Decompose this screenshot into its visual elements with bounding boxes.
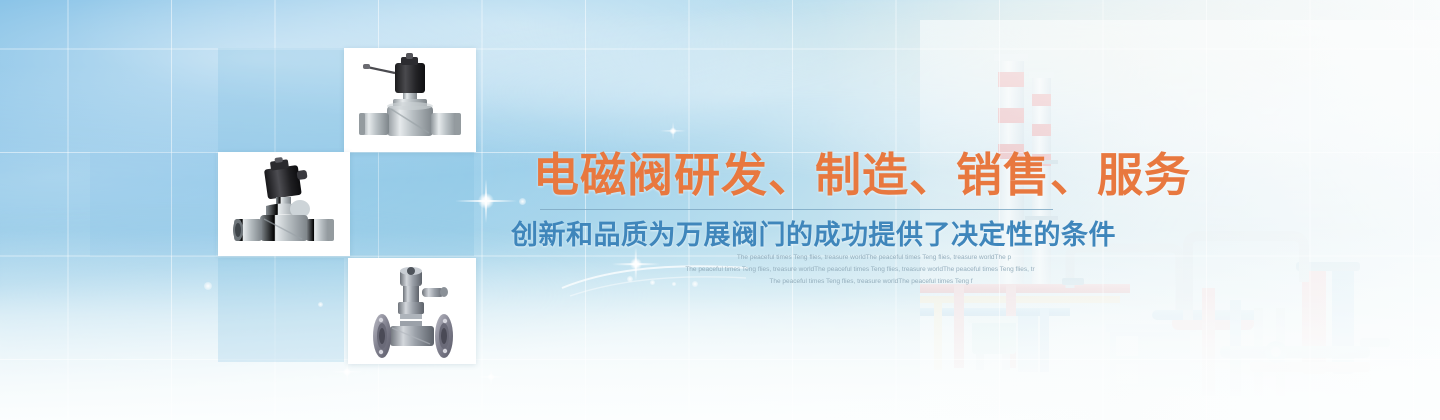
- headline-divider: [540, 209, 1053, 210]
- product-card-solenoid-valve-threaded-angled[interactable]: [218, 152, 350, 256]
- blurb-line-3: The peaceful times Teng flies, treasure …: [640, 276, 1080, 288]
- promo-banner: 电磁阀研发、制造、销售、服务 创新和品质为万展阀门的成功提供了决定性的条件 Th…: [0, 0, 1440, 420]
- product-card-solenoid-valve-threaded-top[interactable]: [344, 48, 476, 152]
- banner-subheadline: 创新和品质为万展阀门的成功提供了决定性的条件: [511, 220, 1116, 251]
- product-card-solenoid-valve-flanged[interactable]: [348, 258, 476, 364]
- right-haze: [820, 0, 1440, 420]
- blurb-line-2: The peaceful times Teng flies, treasure …: [640, 264, 1080, 276]
- banner-blurb: The peaceful times Teng flies, treasure …: [640, 252, 1080, 288]
- banner-headline: 电磁阀研发、制造、销售、服务: [533, 152, 1191, 198]
- blurb-line-1: The peaceful times Teng flies, treasure …: [640, 252, 1080, 264]
